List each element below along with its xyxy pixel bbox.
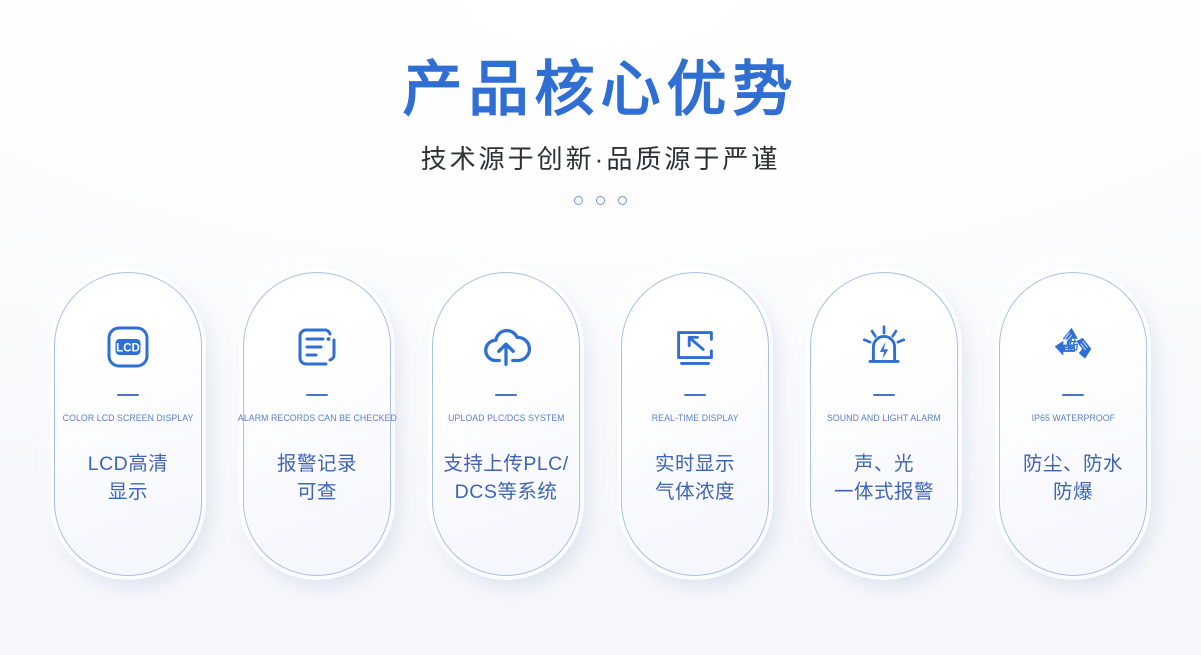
page-title: 产品核心优势 (0, 58, 1201, 123)
alarm-record-document-icon (290, 320, 344, 374)
monitor-display-icon (668, 320, 722, 374)
svg-text:LCD: LCD (116, 342, 140, 354)
card-en-caption: IP65 WATERPROOF (1031, 413, 1114, 424)
siren-alarm-icon (857, 320, 911, 374)
card-divider (495, 394, 517, 396)
card-cn-line: 显示 (88, 479, 169, 507)
card-divider (873, 394, 895, 396)
card-cn-title: 实时显示 气体浓度 (651, 451, 739, 506)
card-en-caption: SOUND AND LIGHT ALARM (827, 413, 941, 424)
product-advantages-page: 产品核心优势 技术源于创新·品质源于严谨 LCD COLOR LCD SCREE… (0, 0, 1201, 655)
card-cn-title: 防尘、防水 防爆 (1019, 451, 1127, 506)
card-cn-title: 报警记录 可查 (273, 451, 361, 506)
card-cn-line: 实时显示 (655, 451, 735, 479)
card-cn-line: DCS等系统 (443, 479, 568, 507)
card-cn-line: 支持上传PLC/ (443, 451, 568, 479)
card-cn-line: 一体式报警 (834, 479, 934, 507)
card-en-caption: REAL-TIME DISPLAY (652, 413, 739, 424)
card-en-caption: ALARM RECORDS CAN BE CHECKED (238, 413, 397, 424)
advantage-card-row: LCD COLOR LCD SCREEN DISPLAY LCD高清 显示 (0, 272, 1201, 576)
card-en-caption: UPLOAD PLC/DCS SYSTEM (448, 413, 565, 424)
card-cn-title: 声、光 一体式报警 (830, 451, 938, 506)
waterproof-character: 防 (1067, 338, 1079, 352)
card-cn-line: 防尘、防水 (1023, 451, 1123, 479)
advantage-card-waterproof[interactable]: 防 IP65 WATERPROOF 防尘、防水 防爆 (999, 272, 1147, 576)
card-divider (117, 394, 139, 396)
card-cn-title: LCD高清 显示 (84, 451, 173, 506)
card-cn-line: 气体浓度 (655, 479, 735, 507)
card-divider (1062, 394, 1084, 396)
dot-icon (574, 196, 583, 205)
card-divider (306, 394, 328, 396)
dot-icon (618, 196, 627, 205)
dot-icon (596, 196, 605, 205)
card-cn-title: 支持上传PLC/ DCS等系统 (439, 451, 572, 506)
card-en-caption: COLOR LCD SCREEN DISPLAY (63, 413, 194, 424)
advantage-card-cloud-upload[interactable]: UPLOAD PLC/DCS SYSTEM 支持上传PLC/ DCS等系统 (432, 272, 580, 576)
cloud-upload-icon (479, 320, 533, 374)
card-cn-line: LCD高清 (88, 451, 169, 479)
card-divider (684, 394, 706, 396)
page-header: 产品核心优势 技术源于创新·品质源于严谨 (0, 0, 1201, 205)
page-subtitle: 技术源于创新·品质源于严谨 (0, 139, 1201, 176)
decorative-dots (0, 196, 1201, 205)
card-cn-line: 报警记录 (277, 451, 357, 479)
card-cn-line: 声、光 (834, 451, 934, 479)
advantage-card-realtime-display[interactable]: REAL-TIME DISPLAY 实时显示 气体浓度 (621, 272, 769, 576)
waterproof-recycle-icon: 防 (1046, 320, 1100, 374)
card-cn-line: 可查 (277, 479, 357, 507)
lcd-screen-icon: LCD (101, 320, 155, 374)
card-cn-line: 防爆 (1023, 479, 1123, 507)
advantage-card-lcd[interactable]: LCD COLOR LCD SCREEN DISPLAY LCD高清 显示 (54, 272, 202, 576)
advantage-card-sound-light-alarm[interactable]: SOUND AND LIGHT ALARM 声、光 一体式报警 (810, 272, 958, 576)
advantage-card-alarm-records[interactable]: ALARM RECORDS CAN BE CHECKED 报警记录 可查 (243, 272, 391, 576)
